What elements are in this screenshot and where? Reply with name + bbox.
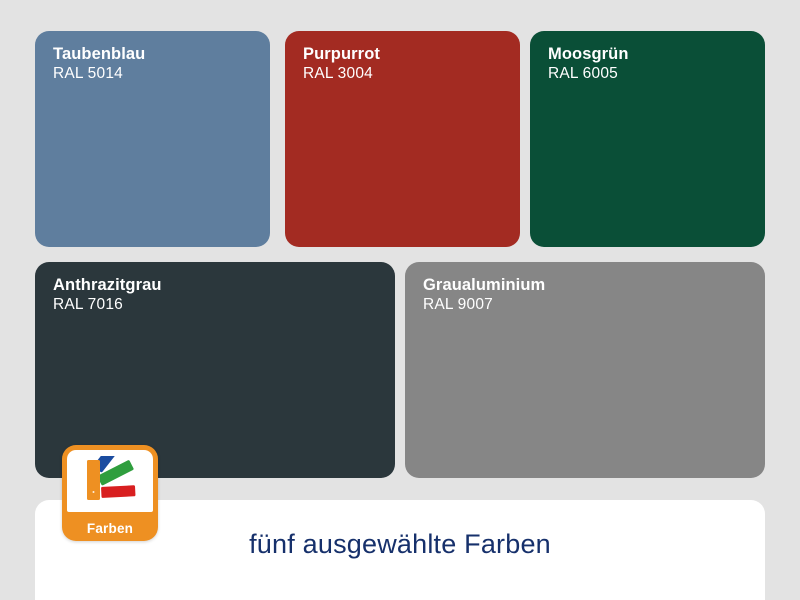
color-fan-icon	[79, 456, 141, 506]
swatch-ral-code: RAL 5014	[53, 65, 145, 84]
color-palette-board: Taubenblau RAL 5014 Purpurrot RAL 3004 M…	[0, 0, 800, 600]
swatch-ral-code: RAL 9007	[423, 296, 545, 315]
swatch-ral-code: RAL 6005	[548, 65, 629, 84]
swatch-label-group: Anthrazitgrau RAL 7016	[53, 275, 162, 315]
color-swatch-graualuminium[interactable]: Graualuminium RAL 9007	[405, 262, 765, 478]
swatch-ral-code: RAL 7016	[53, 296, 162, 315]
swatch-color-name: Anthrazitgrau	[53, 275, 162, 295]
swatch-color-name: Purpurrot	[303, 44, 380, 64]
swatch-ral-code: RAL 3004	[303, 65, 380, 84]
swatch-label-group: Moosgrün RAL 6005	[548, 44, 629, 84]
farben-brand-badge[interactable]: Farben	[62, 445, 158, 541]
badge-label: Farben	[62, 521, 158, 536]
badge-icon-plate	[67, 450, 153, 512]
color-swatch-taubenblau[interactable]: Taubenblau RAL 5014	[35, 31, 270, 247]
swatch-color-name: Taubenblau	[53, 44, 145, 64]
swatch-label-group: Graualuminium RAL 9007	[423, 275, 545, 315]
color-swatch-moosgruen[interactable]: Moosgrün RAL 6005	[530, 31, 765, 247]
swatch-label-group: Purpurrot RAL 3004	[303, 44, 380, 84]
color-swatch-purpurrot[interactable]: Purpurrot RAL 3004	[285, 31, 520, 247]
swatch-color-name: Moosgrün	[548, 44, 629, 64]
swatch-label-group: Taubenblau RAL 5014	[53, 44, 145, 84]
swatch-color-name: Graualuminium	[423, 275, 545, 295]
